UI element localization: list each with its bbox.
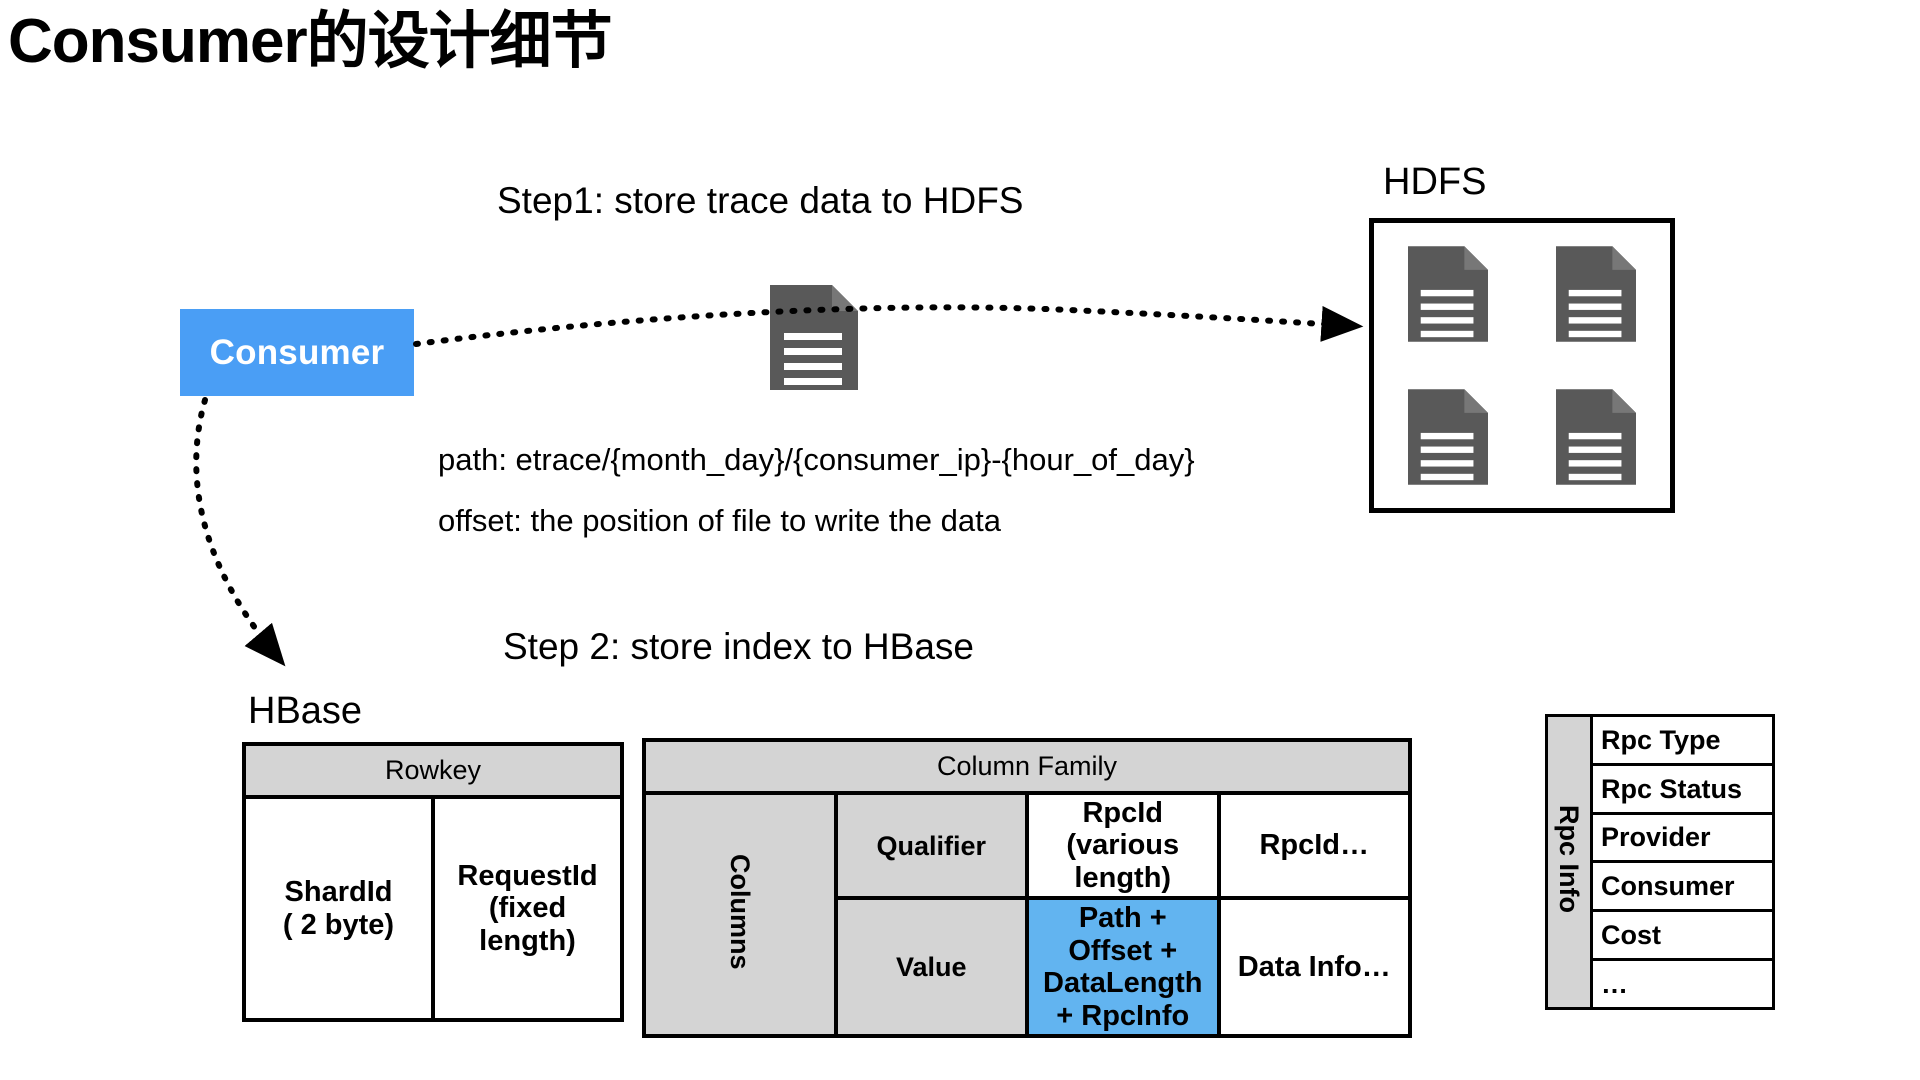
value-tail-cell: Data Info… — [1219, 898, 1411, 1036]
step2-caption: Step 2: store index to HBase — [503, 628, 974, 665]
rpc-info-row-1: Rpc Status — [1592, 764, 1774, 813]
step1-caption: Step1: store trace data to HDFS — [497, 182, 1023, 219]
rpc-info-side-label-cell: Rpc Info — [1547, 716, 1592, 1009]
hbase-label: HBase — [248, 692, 362, 730]
slide-canvas: Consumer的设计细节 Step1: store trace data to… — [0, 0, 1920, 1080]
hdfs-file-icon — [1556, 246, 1636, 342]
rpc-info-side-label: Rpc Info — [1554, 805, 1584, 913]
hdfs-file-icon — [1408, 389, 1488, 485]
rowkey-cell-shardid: ShardId ( 2 byte) — [244, 797, 433, 1020]
rowkey-shardid-line2: ( 2 byte) — [250, 909, 427, 941]
column-family-header: Column Family — [644, 740, 1410, 793]
value-main-cell: Path + Offset + DataLength + RpcInfo — [1027, 898, 1219, 1036]
value-main-line2: DataLength + RpcInfo — [1033, 967, 1213, 1032]
columns-side-label-cell: Columns — [644, 793, 836, 1036]
hdfs-file-icon — [1408, 246, 1488, 342]
columns-side-label: Columns — [725, 854, 755, 970]
rpc-info-row-5: … — [1592, 960, 1774, 1009]
page-title: Consumer的设计细节 — [8, 6, 612, 77]
rpc-info-row-0: Rpc Type — [1592, 716, 1774, 765]
table-row: Rowkey — [244, 744, 622, 797]
rowkey-requestid-line1: RequestId — [439, 860, 616, 892]
qualifier-tail-cell: RpcId… — [1219, 793, 1411, 898]
table-row: Column Family — [644, 740, 1410, 793]
rpc-info-row-2: Provider — [1592, 813, 1774, 862]
rowkey-header: Rowkey — [244, 744, 622, 797]
rpc-info-table: Rpc Info Rpc Type Rpc Status Provider Co… — [1545, 714, 1775, 1010]
rowkey-table: Rowkey ShardId ( 2 byte) RequestId (fixe… — [242, 742, 624, 1022]
qualifier-main-cell: RpcId (various length) — [1027, 793, 1219, 898]
hdfs-container — [1369, 218, 1675, 513]
qualifier-main-line2: (various length) — [1033, 829, 1213, 894]
table-row: ShardId ( 2 byte) RequestId (fixed lengt… — [244, 797, 622, 1020]
arrow-consumer-to-hdfs — [416, 307, 1355, 344]
consumer-node[interactable]: Consumer — [180, 309, 414, 396]
arrow-consumer-to-hbase — [196, 400, 280, 660]
rpc-info-row-3: Consumer — [1592, 862, 1774, 911]
rowkey-requestid-line2: (fixed length) — [439, 892, 616, 957]
hdfs-file-icon — [1556, 389, 1636, 485]
table-row: Columns Qualifier RpcId (various length)… — [644, 793, 1410, 898]
trace-file-icon — [770, 285, 858, 390]
consumer-node-label: Consumer — [210, 333, 385, 373]
qualifier-row-label: Qualifier — [836, 793, 1028, 898]
value-main-line1: Path + Offset + — [1033, 902, 1213, 967]
column-family-table: Column Family Columns Qualifier RpcId (v… — [642, 738, 1412, 1038]
path-note: path: etrace/{month_day}/{consumer_ip}-{… — [438, 444, 1195, 475]
rowkey-shardid-line1: ShardId — [250, 876, 427, 908]
hdfs-label: HDFS — [1383, 163, 1486, 201]
rowkey-cell-requestid: RequestId (fixed length) — [433, 797, 622, 1020]
offset-note: offset: the position of file to write th… — [438, 505, 1001, 536]
value-row-label: Value — [836, 898, 1028, 1036]
rpc-info-row-4: Cost — [1592, 911, 1774, 960]
qualifier-main-line1: RpcId — [1033, 797, 1213, 829]
hdfs-file-grid — [1374, 223, 1670, 508]
table-row: Rpc Info Rpc Type — [1547, 716, 1774, 765]
